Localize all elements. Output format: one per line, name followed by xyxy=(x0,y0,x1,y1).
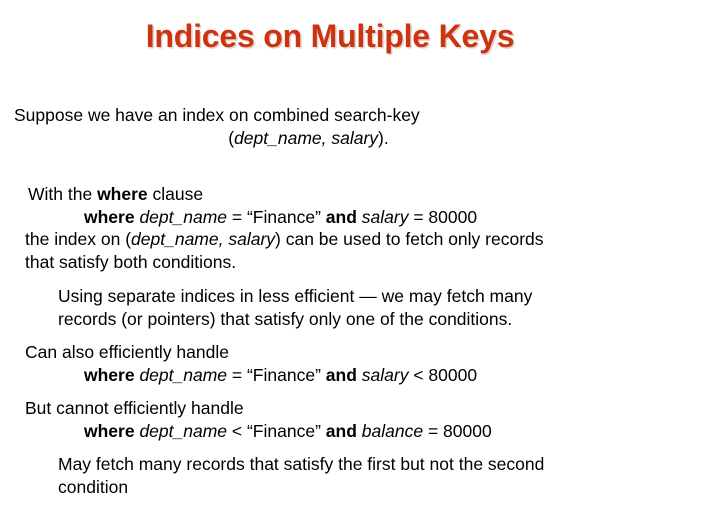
query1-operator-2: = xyxy=(408,207,428,227)
cannot-handle-lead: But cannot efficiently handle xyxy=(0,397,713,420)
where-clause-lead-pre: With the xyxy=(28,184,97,204)
spacer-4 xyxy=(0,386,713,397)
intro-line-1: Suppose we have an index on combined sea… xyxy=(0,104,713,127)
intro-paren-close: ). xyxy=(378,128,389,148)
query2-where-keyword: where xyxy=(84,365,135,385)
cannot-handle-note-line-2: condition xyxy=(0,476,713,499)
explain-line-2: that satisfy both conditions. xyxy=(0,251,713,274)
spacer-5 xyxy=(0,442,713,453)
query2-attribute-1: dept_name xyxy=(139,365,227,385)
where-clause-lead: With the where clause xyxy=(0,183,713,206)
query1-and-keyword: and xyxy=(326,207,357,227)
explain-search-keys: dept_name, salary xyxy=(131,229,275,249)
query2-value-1: “Finance” xyxy=(247,365,321,385)
slide: Indices on Multiple Keys Suppose we have… xyxy=(0,0,713,510)
spacer-2 xyxy=(0,273,713,285)
query1-value-1: “Finance” xyxy=(247,207,321,227)
explain-line-1: the index on (dept_name, salary) can be … xyxy=(0,228,713,251)
spacer-1 xyxy=(0,149,713,183)
query2-and-keyword: and xyxy=(326,365,357,385)
query-equal-less: where dept_name = “Finance” and salary <… xyxy=(0,364,713,387)
query3-attribute-1: dept_name xyxy=(139,421,227,441)
query2-attribute-2: salary xyxy=(362,365,409,385)
intro-search-keys: dept_name, salary xyxy=(234,128,378,148)
intro-line-2: (dept_name, salary). xyxy=(0,127,713,150)
query1-value-2: 80000 xyxy=(428,207,477,227)
query-less-equal: where dept_name < “Finance” and balance … xyxy=(0,420,713,443)
cannot-handle-note-line-1: May fetch many records that satisfy the … xyxy=(0,453,713,476)
query3-and-keyword: and xyxy=(326,421,357,441)
query-equal-equal: where dept_name = “Finance” and salary =… xyxy=(0,206,713,229)
slide-body: Suppose we have an index on combined sea… xyxy=(0,104,713,498)
query2-operator-2: < xyxy=(408,365,428,385)
page-title: Indices on Multiple Keys xyxy=(0,18,660,55)
query3-value-2: 80000 xyxy=(443,421,492,441)
separate-indices-note-line-2: records (or pointers) that satisfy only … xyxy=(0,308,713,331)
where-keyword: where xyxy=(97,184,148,204)
query1-operator-1: = xyxy=(227,207,247,227)
query3-value-1: “Finance” xyxy=(247,421,321,441)
query3-attribute-2: balance xyxy=(362,421,423,441)
query3-operator-2: = xyxy=(423,421,443,441)
explain-pre: the index on ( xyxy=(25,229,131,249)
where-clause-lead-post: clause xyxy=(148,184,203,204)
spacer-3 xyxy=(0,330,713,341)
query3-operator-1: < xyxy=(227,421,247,441)
can-handle-lead: Can also efficiently handle xyxy=(0,341,713,364)
query1-where-keyword: where xyxy=(84,207,135,227)
separate-indices-note-line-1: Using separate indices in less efficient… xyxy=(0,285,713,308)
query3-where-keyword: where xyxy=(84,421,135,441)
query2-value-2: 80000 xyxy=(428,365,477,385)
query1-attribute-2: salary xyxy=(362,207,409,227)
explain-post: ) can be used to fetch only records xyxy=(275,229,543,249)
query2-operator-1: = xyxy=(227,365,247,385)
query1-attribute-1: dept_name xyxy=(139,207,227,227)
